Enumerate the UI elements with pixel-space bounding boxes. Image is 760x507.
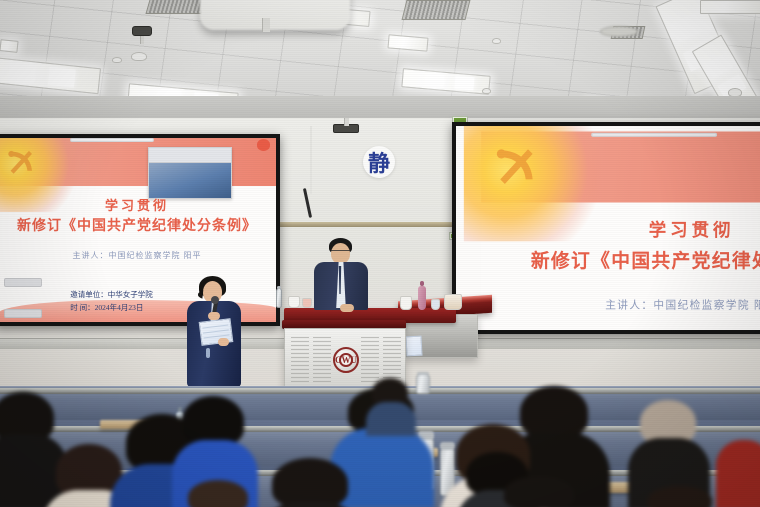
ceiling-sprinkler <box>492 38 501 44</box>
ceiling-light-panel <box>0 39 19 53</box>
university-emblem: CWU <box>333 347 359 373</box>
organisation-logo <box>257 139 271 150</box>
steel-thermos <box>416 374 430 394</box>
ceiling-ac-unit <box>200 0 350 30</box>
podium-vent-louver <box>361 337 379 385</box>
slide-date: 时 间：2024年4月23日 <box>70 302 143 313</box>
small-box <box>302 298 312 308</box>
right-slide-surface: 学习贯彻 新修订《中国共产党纪律处分条例》 主讲人：中国纪检监察学院 阳平 邀请… <box>456 126 760 330</box>
vc-titlebar <box>149 148 230 163</box>
ceiling-projector <box>132 26 152 36</box>
slide-header-banner <box>0 138 276 186</box>
podium-vent-louver <box>291 337 309 385</box>
slide-corner-tag <box>4 278 43 287</box>
water-bottle <box>276 288 282 308</box>
ac-mount-stem <box>262 18 270 32</box>
ceiling-fixture <box>600 26 638 37</box>
quiet-sign-label: 静 <box>368 146 390 178</box>
slide-title-line1: 学习贯彻 <box>0 195 276 214</box>
eyeglasses-icon <box>331 250 350 254</box>
tissue-box <box>288 296 300 308</box>
person-podium-speaker <box>312 238 370 312</box>
ceiling <box>0 0 760 128</box>
podium-vent-louver <box>313 337 331 385</box>
slide-corner-tag <box>4 309 43 318</box>
slide-title-line1: 学习贯彻 <box>481 216 760 241</box>
speaker-hand <box>340 304 354 312</box>
slide-presenter: 主讲人：中国纪检监察学院 阳平 <box>481 298 760 313</box>
slide-host-org: 邀请单位：中华女子学院 <box>70 289 153 300</box>
slide-header-banner <box>481 131 760 202</box>
video-conference-toolbar <box>591 132 717 137</box>
glass-cup <box>431 299 440 310</box>
emblem-inner: CWU <box>339 353 353 367</box>
hanging-cable <box>310 126 312 194</box>
ceiling-air-vent <box>402 0 471 20</box>
lecture-hall-photo: 静 <box>0 0 760 507</box>
posted-paper <box>405 336 422 357</box>
slide-presenter: 主讲人：中国纪检监察学院 阳平 <box>0 250 276 261</box>
hammer-and-sickle-icon <box>6 145 37 177</box>
ceiling-sprinkler <box>482 88 491 94</box>
microphone-head <box>211 296 219 304</box>
standing-speaker-hand-2 <box>218 338 229 346</box>
projector-arm <box>344 118 349 126</box>
vc-video-feed <box>149 163 230 198</box>
video-conference-thumbnail <box>148 147 231 199</box>
slide-title-line2: 新修订《中国共产党纪律处分条例》 <box>481 246 760 273</box>
ceiling-speaker-dome <box>131 52 147 61</box>
hammer-and-sickle-icon <box>494 141 540 188</box>
slide-title-line2: 新修订《中国共产党纪律处分条例》 <box>0 215 276 235</box>
snack-box <box>444 294 462 310</box>
pink-thermos <box>418 286 426 310</box>
paper-cup <box>400 296 412 310</box>
presentation-slide-right: 学习贯彻 新修订《中国共产党纪律处分条例》 主讲人：中国纪检监察学院 阳平 邀请… <box>481 131 760 330</box>
quiet-sign: 静 <box>363 146 395 178</box>
ceiling-sprinkler <box>112 57 122 63</box>
video-conference-toolbar <box>70 138 153 141</box>
person-standing-speaker <box>186 276 244 392</box>
ceiling-light-panel <box>700 0 760 14</box>
right-projection-screen: 学习贯彻 新修订《中国共产党纪律处分条例》 主讲人：中国纪检监察学院 阳平 邀请… <box>452 122 760 334</box>
projector-mount <box>140 36 144 44</box>
lanyard-badge <box>206 348 210 358</box>
